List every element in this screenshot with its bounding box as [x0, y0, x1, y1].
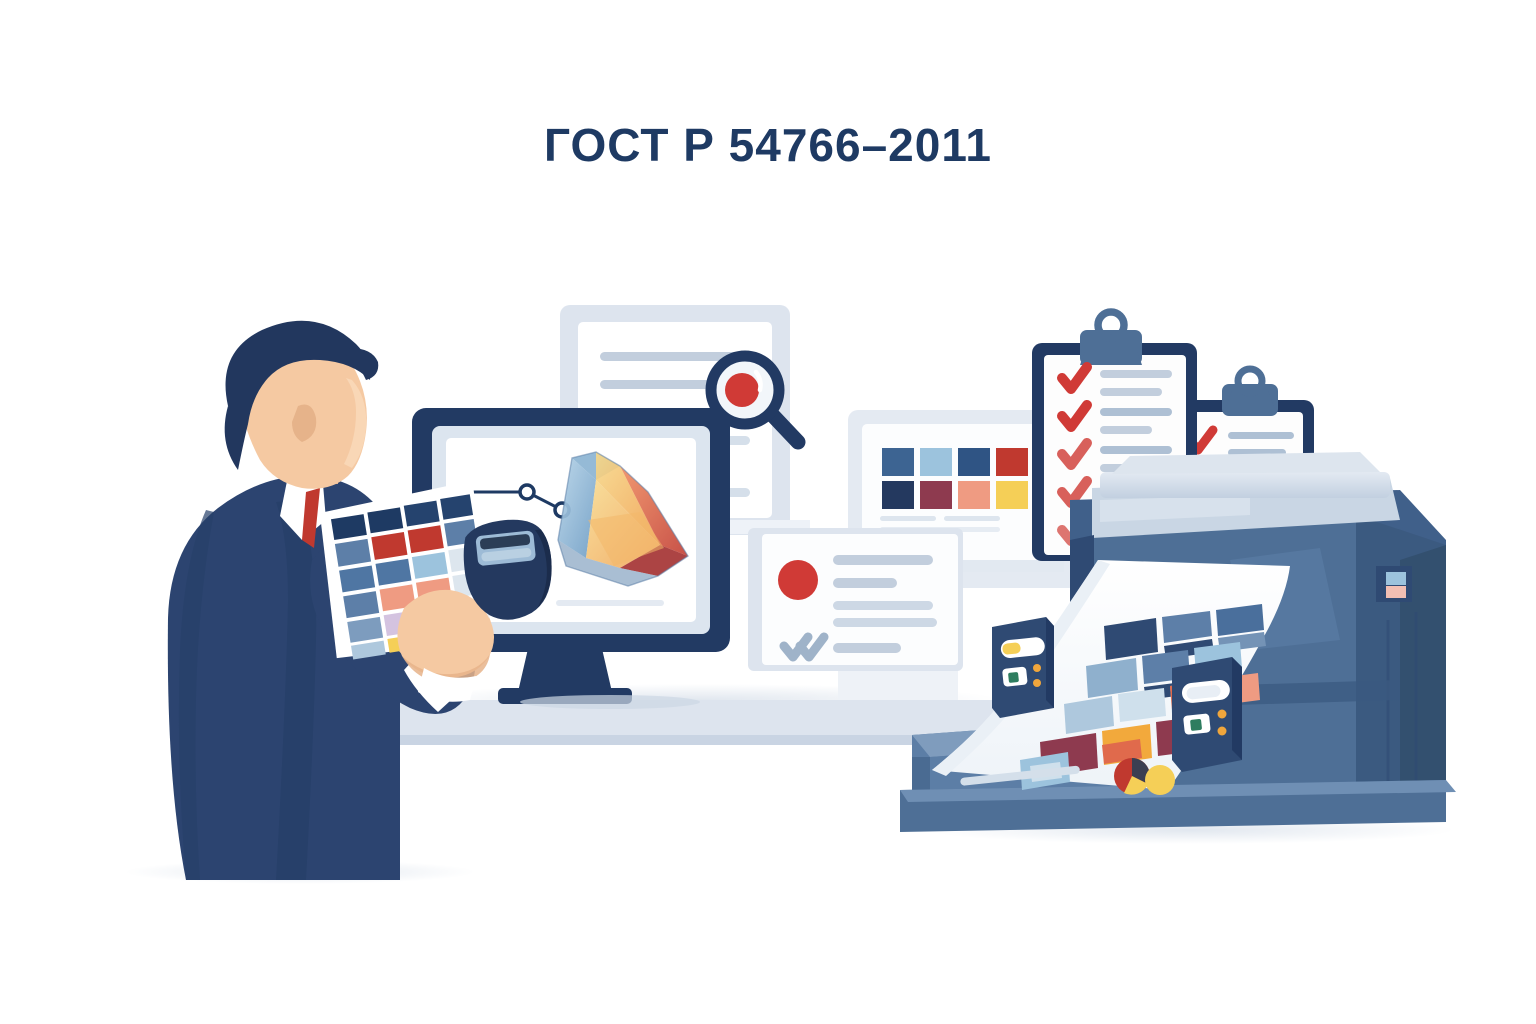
press-control-unit-right[interactable] [1172, 657, 1242, 772]
press-side-control-panel[interactable] [1376, 566, 1412, 602]
press-control-unit-left[interactable] [992, 617, 1054, 718]
illustration-canvas: ГОСТ Р 54766–2011 [0, 0, 1536, 1024]
scene-artwork [0, 0, 1536, 1024]
inspection-report-card [748, 528, 963, 671]
